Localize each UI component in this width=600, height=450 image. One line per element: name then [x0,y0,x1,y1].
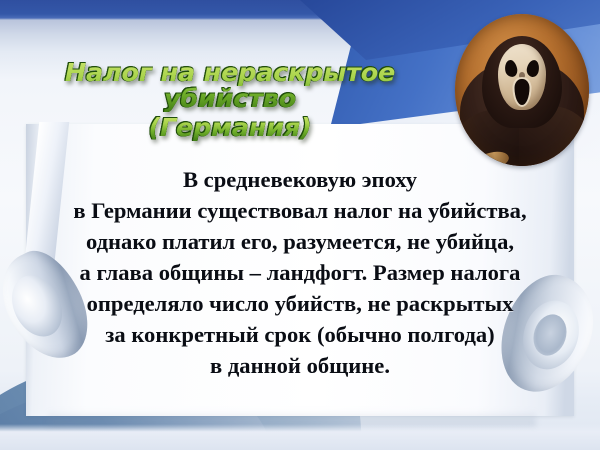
mask-mouth [515,79,530,105]
portrait-oval [455,14,589,166]
body-line-1: В средневековую эпоху [6,164,594,195]
title-line-2: (Германия) [0,115,465,141]
body-line-3: однако платил его, разумеется, не убийца… [6,226,594,257]
slide-body-text: В средневековую эпоху в Германии существ… [6,164,594,381]
body-line-5: определяло число убийств, не раскрытых [6,288,594,319]
slide-canvas: Налог на нераскрытое убийство (Германия)… [0,0,600,450]
title-line-1: Налог на нераскрытое убийство [0,60,465,113]
body-line-7: в данной общине. [6,350,594,381]
body-line-2: в Германии существовал налог на убийства… [6,195,594,226]
mask-eye-right [526,59,541,78]
background-bottom-strip [0,424,600,450]
mask-eye-left [504,59,519,78]
mask-nose [519,72,525,79]
ghostface-mask-icon [498,44,546,110]
slide-title: Налог на нераскрытое убийство (Германия) [0,60,460,141]
body-line-4: а глава общины – ландфогт. Размер налога [6,257,594,288]
body-line-6: за конкретный срок (обычно полгода) [6,319,594,350]
scroll-bottom-shadow [48,410,536,426]
